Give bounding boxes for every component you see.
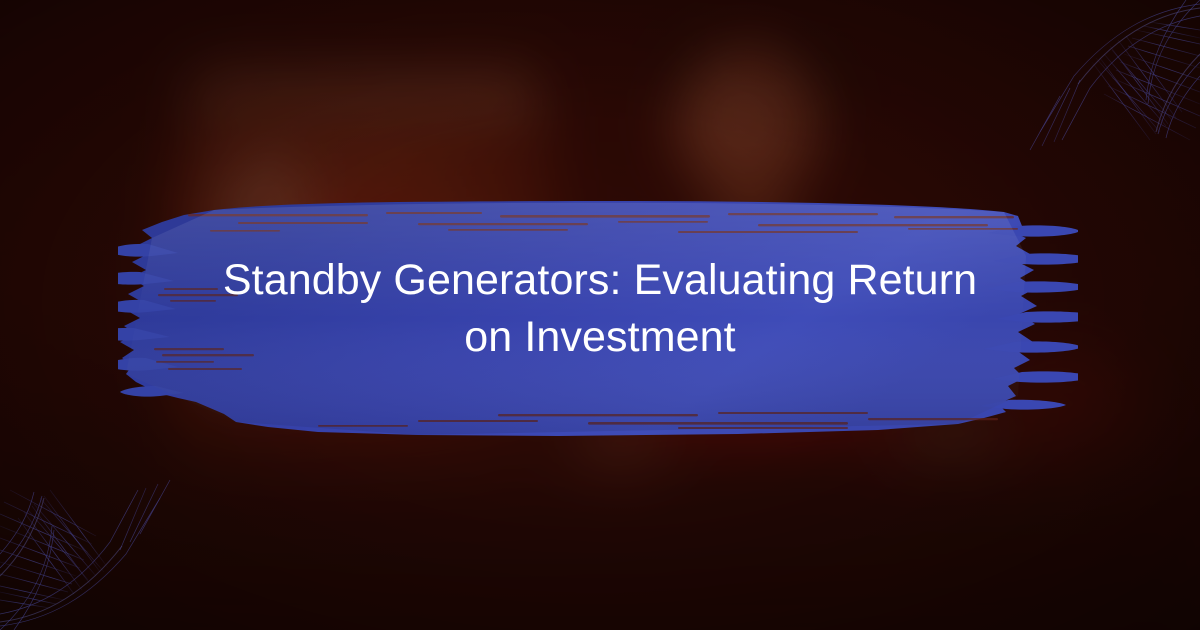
- social-share-banner: Standby Generators: Evaluating Return on…: [0, 0, 1200, 630]
- page-title: Standby Generators: Evaluating Return on…: [200, 252, 1000, 366]
- wireframe-mesh-icon: [0, 470, 200, 630]
- wireframe-mesh-icon: [1000, 0, 1200, 160]
- title-text: Standby Generators: Evaluating Return on…: [200, 252, 1000, 366]
